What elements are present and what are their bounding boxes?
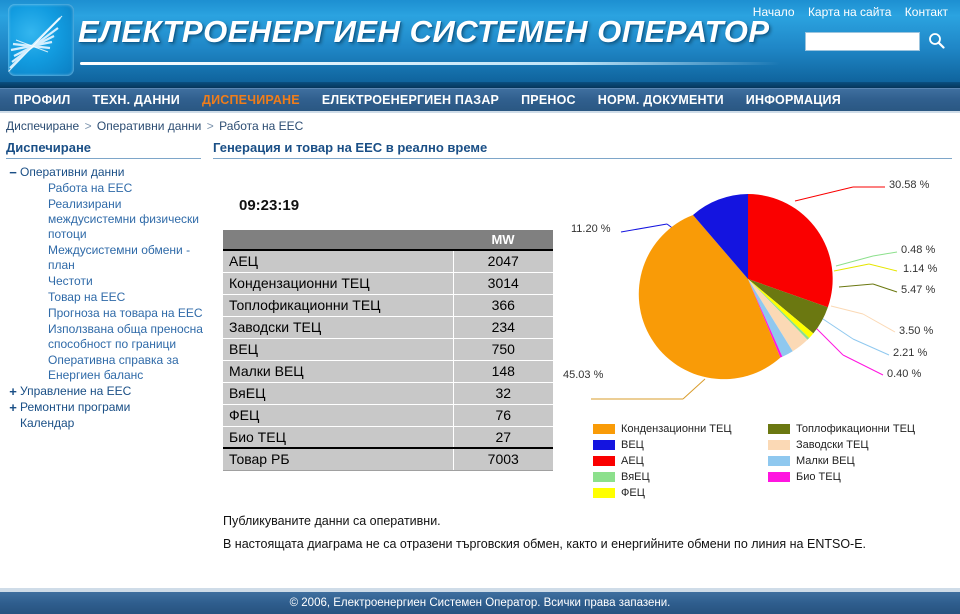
pct-label-bio-tec: 0.40 % (887, 368, 921, 380)
expand-plus-icon[interactable]: + (6, 400, 20, 415)
table-row: ВЕЦ 750 (223, 338, 553, 360)
table-row: Заводски ТЕЦ 234 (223, 316, 553, 338)
legend-label: ВЕЦ (621, 439, 644, 451)
table-row: Топлофикационни ТЕЦ 366 (223, 294, 553, 316)
total-label: Товар РБ (223, 448, 453, 470)
sidebar-item-remontni-programi[interactable]: + Ремонтни програми (6, 400, 205, 415)
chart-legend: Кондензационни ТЕЦ ВЕЦ АЕЦ (593, 421, 943, 501)
copyright-text: © 2006, Електроенергиен Системен Операто… (290, 597, 671, 609)
sidebar-item-label[interactable]: Използвана обща преносна способност по г… (48, 322, 205, 352)
row-value: 76 (453, 404, 553, 426)
pct-label-toplofikacionni-tec: 5.47 % (901, 284, 935, 296)
sidebar-item-label[interactable]: Товар на ЕЕС (48, 290, 125, 305)
search-glyph-icon (928, 32, 945, 49)
sidebar-item-label[interactable]: Оперативни данни (20, 165, 124, 180)
page-root: ЕЛЕКТРОЕНЕРГИЕН СИСТЕМЕН ОПЕРАТОР Начало… (0, 0, 960, 614)
legend-item-kondenzacionni-tec[interactable]: Кондензационни ТЕЦ (593, 421, 768, 437)
data-panel: 09:23:19 MW АЕЦ 2047 (213, 159, 960, 504)
legend-label: АЕЦ (621, 455, 644, 467)
table-row: Био ТЕЦ 27 (223, 426, 553, 448)
sidebar: Диспечиране − Оперативни данни Работа на… (0, 138, 205, 582)
sidebar-item-energien-balans[interactable]: Оперативна справка за Енергиен баланс (6, 353, 205, 383)
generation-table: MW АЕЦ 2047 Кондензационни ТЕЦ 3014 (223, 230, 553, 471)
legend-swatch-icon (593, 488, 615, 498)
legend-swatch-icon (768, 456, 790, 466)
leader-line-malki-vec (820, 317, 853, 339)
row-value: 366 (453, 294, 553, 316)
sidebar-item-rabota-na-ees[interactable]: Работа на ЕЕС (6, 181, 205, 196)
note-line-2-text: В настоящата диаграма не са отразени тър… (223, 537, 804, 551)
legend-item-fec[interactable]: ФЕЦ (593, 485, 768, 501)
sidebar-item-mezhdusistemni-obmeni-plan[interactable]: Междусистемни обмени - план (6, 243, 205, 273)
nav-item-informaciya[interactable]: ИНФОРМАЦИЯ (746, 93, 841, 107)
table-body: АЕЦ 2047 Кондензационни ТЕЦ 3014 Топлофи… (223, 250, 553, 470)
sidebar-item-prenosna-sposobnost[interactable]: Използвана обща преносна способност по г… (6, 322, 205, 352)
generation-pie-chart: 30.58 % 11.20 % 0.48 % 1.14 % 5.47 % 3.5… (563, 159, 948, 504)
search-input[interactable] (805, 32, 920, 51)
legend-item-bio-tec[interactable]: Био ТЕЦ (768, 469, 943, 485)
total-value: 7003 (453, 448, 553, 470)
row-label: ВяЕЦ (223, 382, 453, 404)
nav-item-elektroenergien-pazar[interactable]: ЕЛЕКТРОЕНЕРГИЕН ПАЗАР (322, 93, 499, 107)
pct-label-vec: 11.20 % (571, 223, 611, 235)
search-icon[interactable] (926, 30, 946, 50)
sidebar-item-label[interactable]: Реализирани междусистемни физически пото… (48, 197, 205, 242)
sidebar-item-label[interactable]: Управление на ЕЕС (20, 384, 131, 399)
legend-label: Кондензационни ТЕЦ (621, 423, 731, 435)
leader-line-bio-2 (843, 355, 883, 375)
logo-rays-icon (8, 6, 74, 76)
table-row: Малки ВЕЦ 148 (223, 360, 553, 382)
row-label: Био ТЕЦ (223, 426, 453, 448)
breadcrumb-item-0[interactable]: Диспечиране (6, 119, 79, 133)
table-row: Кондензационни ТЕЦ 3014 (223, 272, 553, 294)
legend-label: Малки ВЕЦ (796, 455, 855, 467)
nav-item-norm-dokumenti[interactable]: НОРМ. ДОКУМЕНТИ (598, 93, 724, 107)
leader-line-aec (795, 187, 853, 201)
top-links: Начало Карта на сайта Контакт (743, 5, 948, 19)
sidebar-item-prognoza-tovar[interactable]: Прогноза на товара на ЕЕС (6, 306, 205, 321)
legend-item-vyaec[interactable]: ВяЕЦ (593, 469, 768, 485)
sidebar-item-operativni-danni[interactable]: − Оперативни данни (6, 165, 205, 180)
row-label: Малки ВЕЦ (223, 360, 453, 382)
table-col-header-mw: MW (453, 230, 553, 250)
table-total-row: Товар РБ 7003 (223, 448, 553, 470)
row-label: Заводски ТЕЦ (223, 316, 453, 338)
top-link-contact[interactable]: Контакт (905, 5, 948, 19)
realtime-clock: 09:23:19 (239, 197, 563, 214)
sidebar-item-tovar-na-ees[interactable]: Товар на ЕЕС (6, 290, 205, 305)
sidebar-item-chestoti[interactable]: Честоти (6, 274, 205, 289)
breadcrumb-separator: > (207, 119, 214, 133)
notes-block: Публикуваните данни са оперативни. В нас… (213, 504, 960, 551)
legend-swatch-icon (593, 440, 615, 450)
legend-item-aec[interactable]: АЕЦ (593, 453, 768, 469)
sidebar-item-label[interactable]: Междусистемни обмени - план (48, 243, 205, 273)
sidebar-item-label[interactable]: Работа на ЕЕС (48, 181, 132, 196)
legend-swatch-icon (768, 424, 790, 434)
legend-swatch-icon (593, 472, 615, 482)
note-entso-suffix: ENTSO-E. (807, 537, 866, 551)
breadcrumb-item-2[interactable]: Работа на ЕЕС (219, 119, 303, 133)
row-value: 148 (453, 360, 553, 382)
legend-item-vec[interactable]: ВЕЦ (593, 437, 768, 453)
breadcrumb: Диспечиране > Оперативни данни > Работа … (0, 113, 960, 138)
legend-swatch-icon (768, 440, 790, 450)
sidebar-item-label[interactable]: Календар (20, 416, 74, 431)
row-label: ФЕЦ (223, 404, 453, 426)
table-row: АЕЦ 2047 (223, 250, 553, 272)
table-column: 09:23:19 MW АЕЦ 2047 (213, 159, 563, 504)
table-header-row: MW (223, 230, 553, 250)
leader-line-fec-2 (869, 264, 897, 271)
legend-item-malki-vec[interactable]: Малки ВЕЦ (768, 453, 943, 469)
sidebar-item-label[interactable]: Ремонтни програми (20, 400, 130, 415)
legend-column-left: Кондензационни ТЕЦ ВЕЦ АЕЦ (593, 421, 768, 501)
row-label: ВЕЦ (223, 338, 453, 360)
search-field-wrap (805, 31, 920, 50)
top-link-home[interactable]: Начало (753, 5, 795, 19)
legend-label: Био ТЕЦ (796, 471, 841, 483)
breadcrumb-item-1[interactable]: Оперативни данни (97, 119, 201, 133)
pct-label-kondenzacionni-tec: 45.03 % (563, 369, 603, 381)
sidebar-list: − Оперативни данни Работа на ЕЕС Реализи… (6, 165, 205, 431)
row-label: Кондензационни ТЕЦ (223, 272, 453, 294)
leader-line-malki-vec-2 (853, 339, 889, 355)
note-line-1: Публикуваните данни са оперативни. (223, 514, 960, 528)
lightning-logo-icon[interactable] (8, 4, 74, 76)
pct-label-malki-vec: 2.21 % (893, 347, 927, 359)
table-row: ВяЕЦ 32 (223, 382, 553, 404)
pie-chart-svg (563, 159, 948, 421)
sidebar-title: Диспечиране (6, 138, 201, 159)
body-wrap: Диспечиране − Оперативни данни Работа на… (0, 138, 960, 582)
legend-column-right: Топлофикационни ТЕЦ Заводски ТЕЦ Малки В… (768, 421, 943, 501)
chart-column: 30.58 % 11.20 % 0.48 % 1.14 % 5.47 % 3.5… (563, 159, 960, 504)
leader-line-zavodski-2 (863, 314, 895, 332)
legend-label: Топлофикационни ТЕЦ (796, 423, 915, 435)
content-area: Генерация и товар на ЕЕС в реално време … (205, 138, 960, 582)
pct-label-zavodski-tec: 3.50 % (899, 325, 933, 337)
pct-label-fec: 1.14 % (903, 263, 937, 275)
legend-swatch-icon (593, 424, 615, 434)
site-brand-title: ЕЛЕКТРОЕНЕРГИЕН СИСТЕМЕН ОПЕРАТОР (78, 14, 770, 50)
page-title: Генерация и товар на ЕЕС в реално време (213, 138, 952, 159)
top-link-sitemap[interactable]: Карта на сайта (808, 5, 892, 19)
legend-label: Заводски ТЕЦ (796, 439, 868, 451)
sidebar-item-realizirani-potoci[interactable]: Реализирани междусистемни физически пото… (6, 197, 205, 242)
row-label: АЕЦ (223, 250, 453, 272)
nav-item-tehn-danni[interactable]: ТЕХН. ДАННИ (93, 93, 180, 107)
main-navigation: ПРОФИЛ ТЕХН. ДАННИ ДИСПЕЧИРАНЕ ЕЛЕКТРОЕН… (0, 88, 960, 113)
leader-line-zavodski (831, 306, 863, 314)
legend-item-zavodski-tec[interactable]: Заводски ТЕЦ (768, 437, 943, 453)
sidebar-item-label[interactable]: Честоти (48, 274, 93, 289)
site-footer: © 2006, Електроенергиен Системен Операто… (0, 590, 960, 614)
breadcrumb-separator: > (85, 119, 92, 133)
brand-underline (80, 62, 780, 65)
legend-label: ФЕЦ (621, 487, 645, 499)
note-line-2: В настоящата диаграма не са отразени тър… (223, 537, 960, 551)
row-value: 3014 (453, 272, 553, 294)
collapse-minus-icon[interactable]: − (6, 165, 20, 180)
row-value: 234 (453, 316, 553, 338)
row-label: Топлофикационни ТЕЦ (223, 294, 453, 316)
expand-plus-icon[interactable]: + (6, 384, 20, 399)
row-value: 27 (453, 426, 553, 448)
leader-line-vec (621, 224, 667, 232)
sidebar-item-upravlenie-na-ees[interactable]: + Управление на ЕЕС (6, 384, 205, 399)
sidebar-item-kalendar[interactable]: Календар (6, 416, 205, 431)
site-header: ЕЛЕКТРОЕНЕРГИЕН СИСТЕМЕН ОПЕРАТОР Начало… (0, 0, 960, 88)
table-col-header-name (223, 230, 453, 250)
legend-label: ВяЕЦ (621, 471, 650, 483)
table-row: ФЕЦ 76 (223, 404, 553, 426)
nav-item-prenos[interactable]: ПРЕНОС (521, 93, 576, 107)
sidebar-item-label[interactable]: Оперативна справка за Енергиен баланс (48, 353, 205, 383)
pct-label-aec: 30.58 % (889, 179, 929, 191)
legend-item-toplofikacionni-tec[interactable]: Топлофикационни ТЕЦ (768, 421, 943, 437)
row-value: 2047 (453, 250, 553, 272)
nav-item-profil[interactable]: ПРОФИЛ (14, 93, 71, 107)
leader-line-vyaec-2 (873, 252, 897, 256)
legend-swatch-icon (768, 472, 790, 482)
nav-item-dispechirane[interactable]: ДИСПЕЧИРАНЕ (202, 93, 300, 107)
leader-line-kondenz (683, 379, 705, 399)
row-value: 750 (453, 338, 553, 360)
pie-slices-accurate (639, 194, 833, 379)
pct-label-vyaec: 0.48 % (901, 244, 935, 256)
sidebar-item-label[interactable]: Прогноза на товара на ЕЕС (48, 306, 203, 321)
leader-line-toplo (839, 284, 873, 287)
legend-swatch-icon (593, 456, 615, 466)
leader-line-toplo-2 (873, 284, 897, 292)
row-value: 32 (453, 382, 553, 404)
